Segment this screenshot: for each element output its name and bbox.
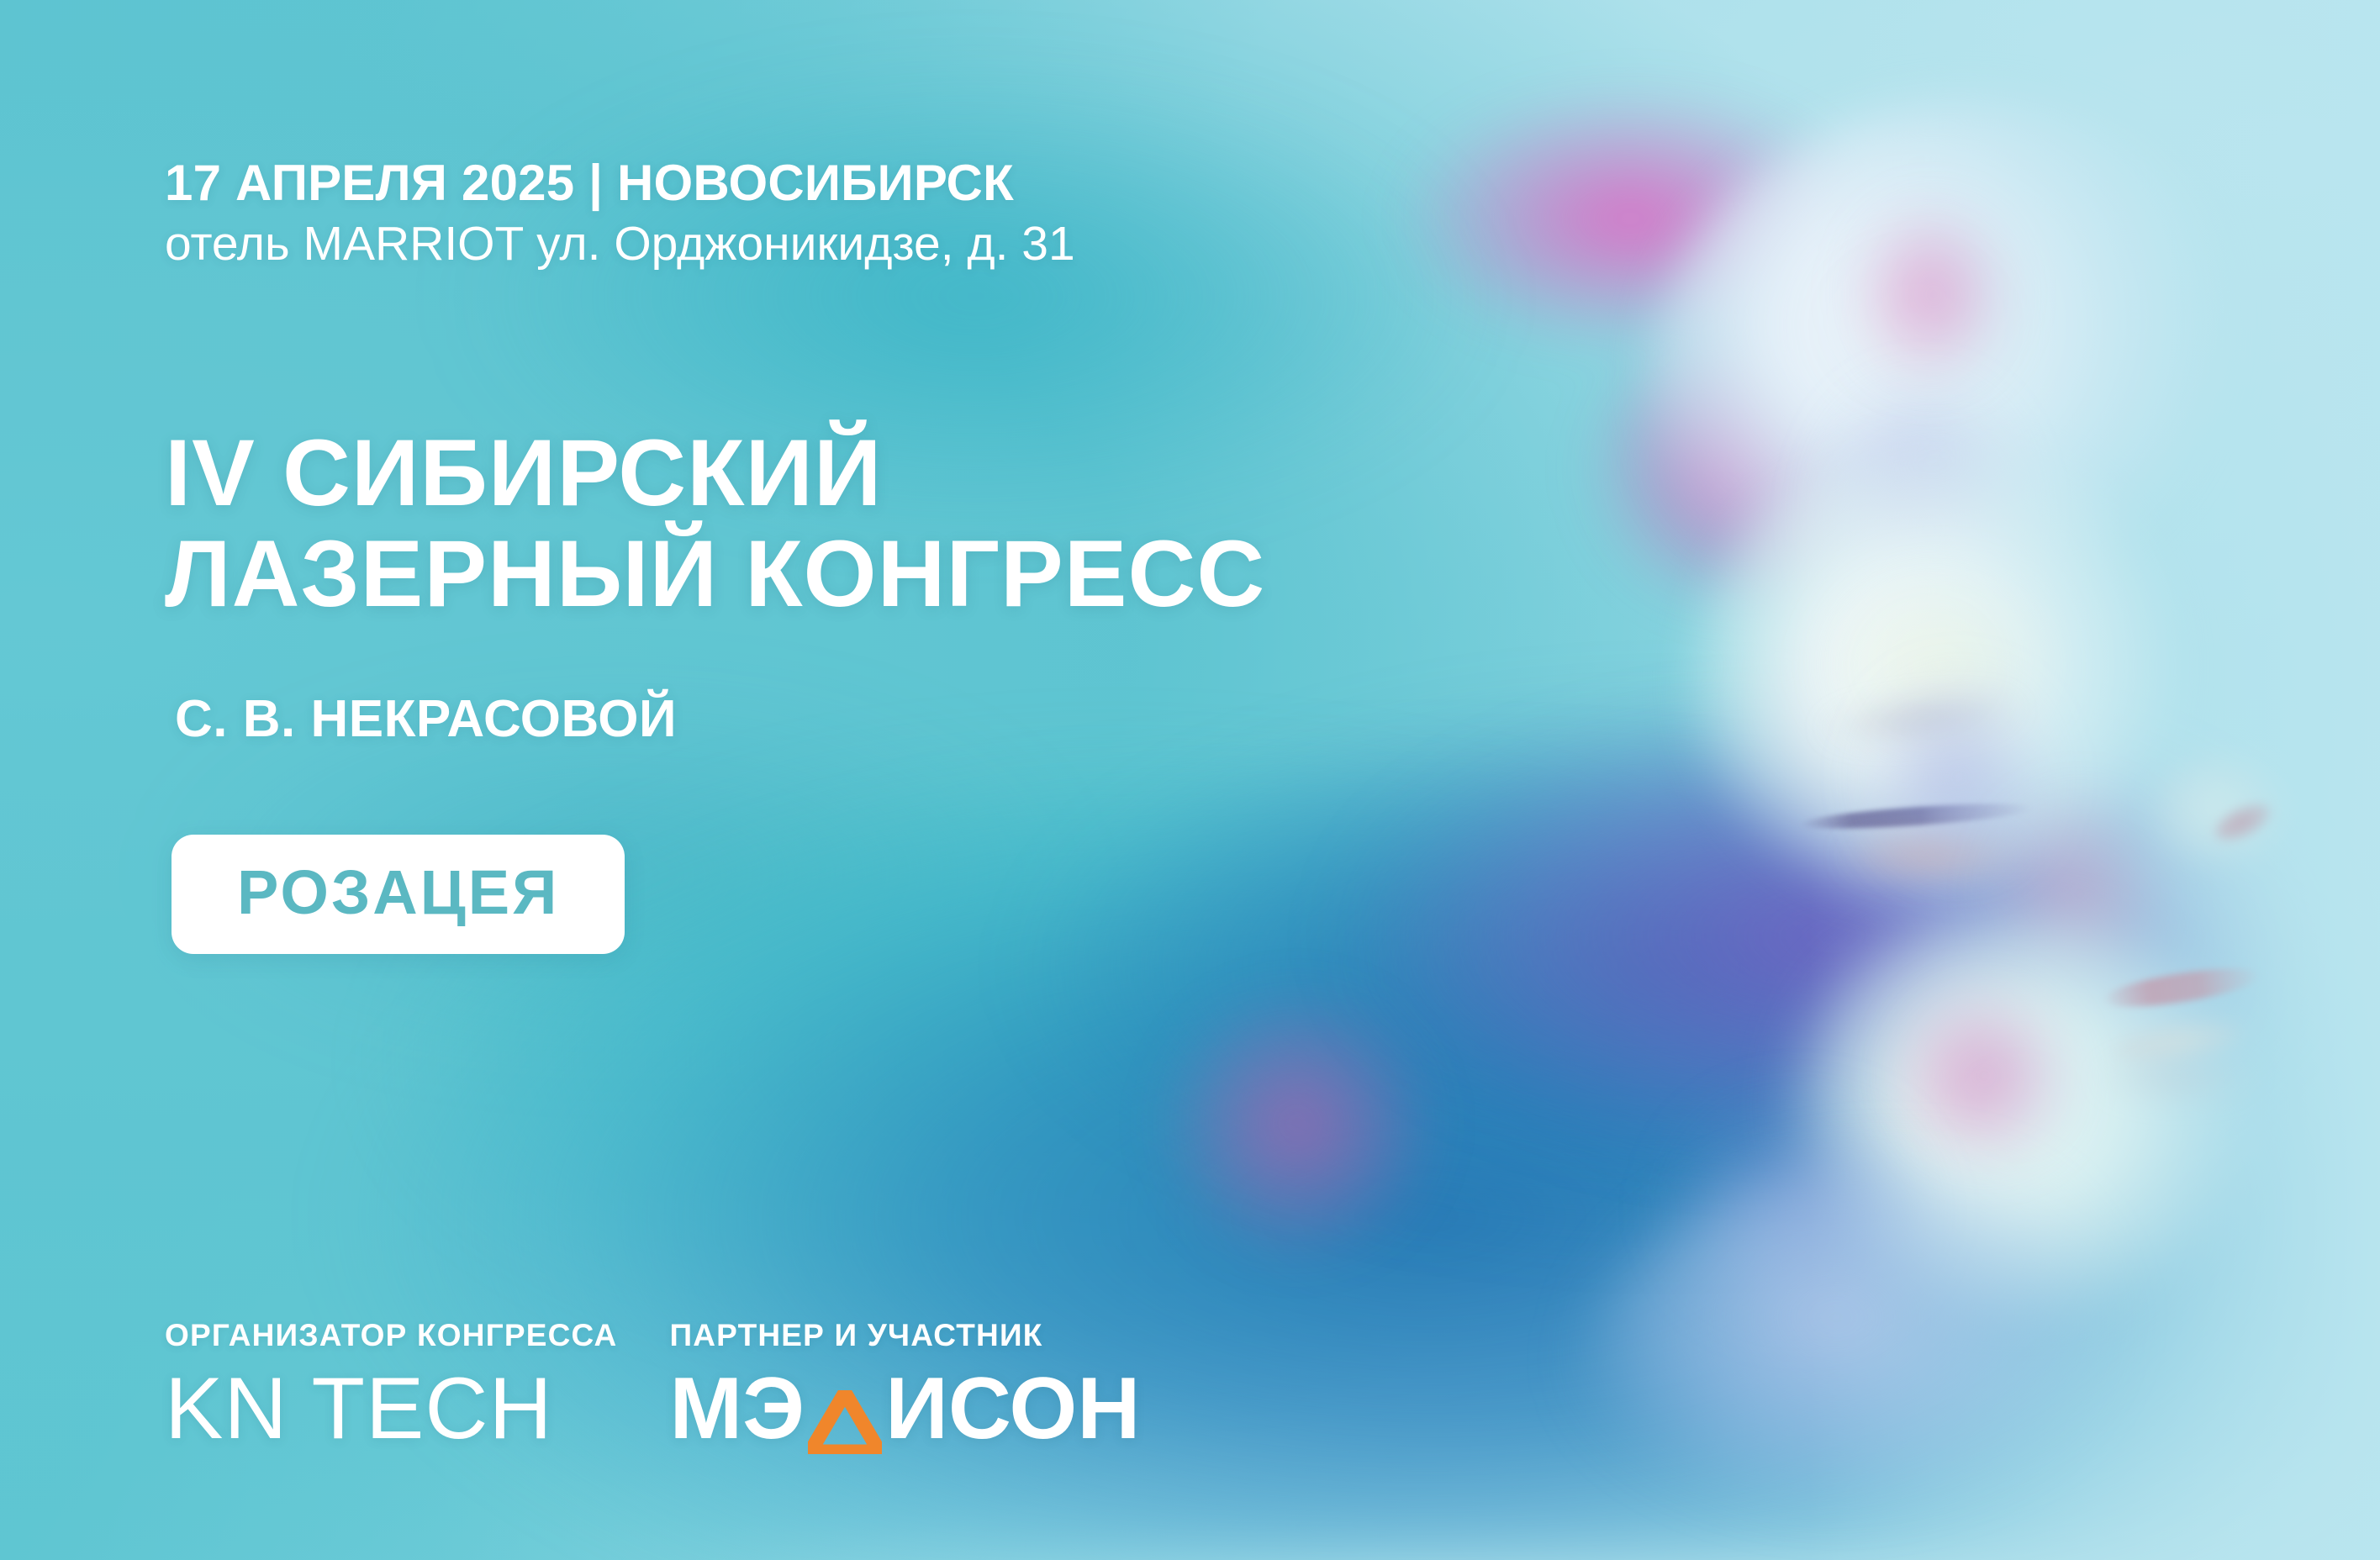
partner-block: ПАРТНЕР И УЧАСТНИК МЭ ИСОН bbox=[669, 1318, 1140, 1452]
topic-badge-label: РОЗАЦЕЯ bbox=[237, 862, 559, 924]
footer-logos: ОРГАНИЗАТОР КОНГРЕССА KN TECH ПАРТНЕР И … bbox=[165, 1318, 1140, 1452]
partner-kicker: ПАРТНЕР И УЧАСТНИК bbox=[669, 1318, 1140, 1353]
partner-logo-madison: МЭ ИСОН bbox=[669, 1365, 1140, 1452]
poster-canvas: 17 АПРЕЛЯ 2025 | НОВОСИБИРСК отель MARRI… bbox=[0, 0, 2380, 1560]
partner-logo-suffix: ИСОН bbox=[885, 1365, 1140, 1452]
page-title: IV СИБИРСКИЙ ЛАЗЕРНЫЙ КОНГРЕСС bbox=[165, 423, 2380, 626]
organizer-logo-kntech: KN TECH bbox=[165, 1365, 617, 1452]
orange-triangle-icon bbox=[808, 1390, 882, 1454]
page-title-line-1: IV СИБИРСКИЙ bbox=[165, 423, 2380, 524]
page-subtitle-speaker: С. В. НЕКРАСОВОЙ bbox=[175, 689, 2380, 749]
partner-logo-prefix: МЭ bbox=[669, 1365, 805, 1452]
topic-badge: РОЗАЦЕЯ bbox=[172, 835, 625, 954]
event-venue-address: отель MARRIOT ул. Орджоникидзе, д. 31 bbox=[165, 210, 2380, 278]
page-title-line-2: ЛАЗЕРНЫЙ КОНГРЕСС bbox=[165, 524, 2380, 625]
event-details-block: 17 АПРЕЛЯ 2025 | НОВОСИБИРСК отель MARRI… bbox=[165, 156, 2380, 278]
organizer-kicker: ОРГАНИЗАТОР КОНГРЕССА bbox=[165, 1318, 617, 1353]
organizer-block: ОРГАНИЗАТОР КОНГРЕССА KN TECH bbox=[165, 1318, 617, 1452]
event-date-city: 17 АПРЕЛЯ 2025 | НОВОСИБИРСК bbox=[165, 156, 2380, 210]
